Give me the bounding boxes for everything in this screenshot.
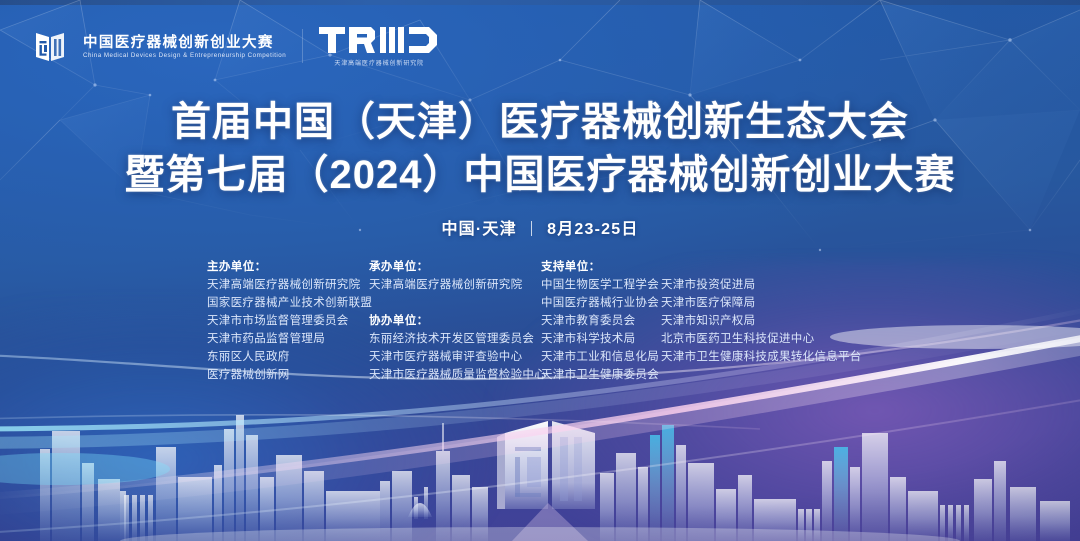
- organizer-item: 医疗器械创新网: [207, 366, 369, 384]
- top-edge-band: [0, 0, 1080, 5]
- organizer-item: 天津高端医疗器械创新研究院: [207, 276, 369, 294]
- organizer-item: 天津市卫生健康科技成果转化信息平台: [661, 348, 873, 366]
- organizer-item: 国家医疗器械产业技术创新联盟: [207, 294, 369, 312]
- organizer-item: 天津市卫生健康委员会: [541, 366, 661, 384]
- column-heading-spacer: [661, 258, 873, 276]
- event-location: 中国·天津: [441, 221, 516, 238]
- competition-brand: 中国医疗器械创新创业大赛 China Medical Devices Desig…: [30, 24, 286, 68]
- organizers-column-2: 承办单位： 天津高端医疗器械创新研究院 协办单位： 东丽经济技术开发区管理委员会…: [369, 258, 541, 384]
- city-skyline-graphic: [0, 391, 1080, 541]
- organizer-group: 主办单位： 天津高端医疗器械创新研究院 国家医疗器械产业技术创新联盟 天津市市场…: [207, 258, 369, 384]
- organizer-item: 天津市医疗保障局: [661, 294, 873, 312]
- organizer-group: 天津市投资促进局 天津市医疗保障局 天津市知识产权局 北京市医药卫生科技促进中心…: [661, 258, 873, 366]
- event-date: 8月23-25日: [547, 221, 638, 238]
- conference-poster: 中国医疗器械创新创业大赛 China Medical Devices Desig…: [0, 0, 1080, 541]
- group-heading: 主办单位：: [207, 258, 369, 276]
- subtitle-separator: [531, 221, 532, 236]
- organizer-group: 支持单位： 中国生物医学工程学会 中国医疗器械行业协会 天津市教育委员会 天津市…: [541, 258, 661, 384]
- organizer-item: 天津市市场监督管理委员会: [207, 312, 369, 330]
- open-door-book-mark-icon: [30, 24, 74, 68]
- brand-name-cn: 中国医疗器械创新创业大赛: [83, 36, 286, 51]
- title-block: 首届中国（天津）医疗器械创新生态大会 暨第七届（2024）中国医疗器械创新创业大…: [0, 96, 1080, 239]
- organizers-column-4: 天津市投资促进局 天津市医疗保障局 天津市知识产权局 北京市医药卫生科技促进中心…: [661, 258, 873, 384]
- partner-brand: 天津高端医疗器械创新研究院: [319, 25, 439, 67]
- subtitle-line: 中国·天津 8月23-25日: [0, 215, 1080, 239]
- group-heading: 承办单位：: [369, 258, 541, 276]
- organizer-item: 东丽经济技术开发区管理委员会: [369, 330, 541, 348]
- organizers-block: 主办单位： 天津高端医疗器械创新研究院 国家医疗器械产业技术创新联盟 天津市市场…: [0, 258, 1080, 384]
- organizer-group: 协办单位： 东丽经济技术开发区管理委员会 天津市医疗器械审评查验中心 天津市医疗…: [369, 312, 541, 384]
- partner-name-cn: 天津高端医疗器械创新研究院: [334, 58, 424, 67]
- organizer-item: 中国医疗器械行业协会: [541, 294, 661, 312]
- organizer-item: 天津市投资促进局: [661, 276, 873, 294]
- organizer-item: 东丽区人民政府: [207, 348, 369, 366]
- group-heading: 协办单位：: [369, 312, 541, 330]
- organizer-group: 承办单位： 天津高端医疗器械创新研究院: [369, 258, 541, 294]
- organizer-item: 天津市工业和信息化局: [541, 348, 661, 366]
- title-line-2: 暨第七届（2024）中国医疗器械创新创业大赛: [0, 149, 1080, 202]
- organizer-item: 中国生物医学工程学会: [541, 276, 661, 294]
- organizer-item: 天津市知识产权局: [661, 312, 873, 330]
- organizer-item: 天津市教育委员会: [541, 312, 661, 330]
- organizers-column-1: 主办单位： 天津高端医疗器械创新研究院 国家医疗器械产业技术创新联盟 天津市市场…: [207, 258, 369, 384]
- triid-logo-icon: [319, 25, 439, 55]
- organizer-item: 天津市医疗器械审评查验中心: [369, 348, 541, 366]
- brand-name-en: China Medical Devices Design & Entrepren…: [83, 52, 286, 59]
- title-line-1: 首届中国（天津）医疗器械创新生态大会: [0, 96, 1080, 149]
- organizer-item: 天津市药品监督管理局: [207, 330, 369, 348]
- organizer-item: 北京市医药卫生科技促进中心: [661, 330, 873, 348]
- header-logos: 中国医疗器械创新创业大赛 China Medical Devices Desig…: [30, 24, 439, 68]
- organizer-item: 天津市科学技术局: [541, 330, 661, 348]
- organizer-item: 天津市医疗器械质量监督检验中心: [369, 366, 541, 384]
- organizer-item: 天津高端医疗器械创新研究院: [369, 276, 541, 294]
- group-heading: 支持单位：: [541, 258, 661, 276]
- header-divider: [302, 29, 303, 63]
- center-emblem-shape: [497, 421, 595, 541]
- organizers-column-3: 支持单位： 中国生物医学工程学会 中国医疗器械行业协会 天津市教育委员会 天津市…: [541, 258, 661, 384]
